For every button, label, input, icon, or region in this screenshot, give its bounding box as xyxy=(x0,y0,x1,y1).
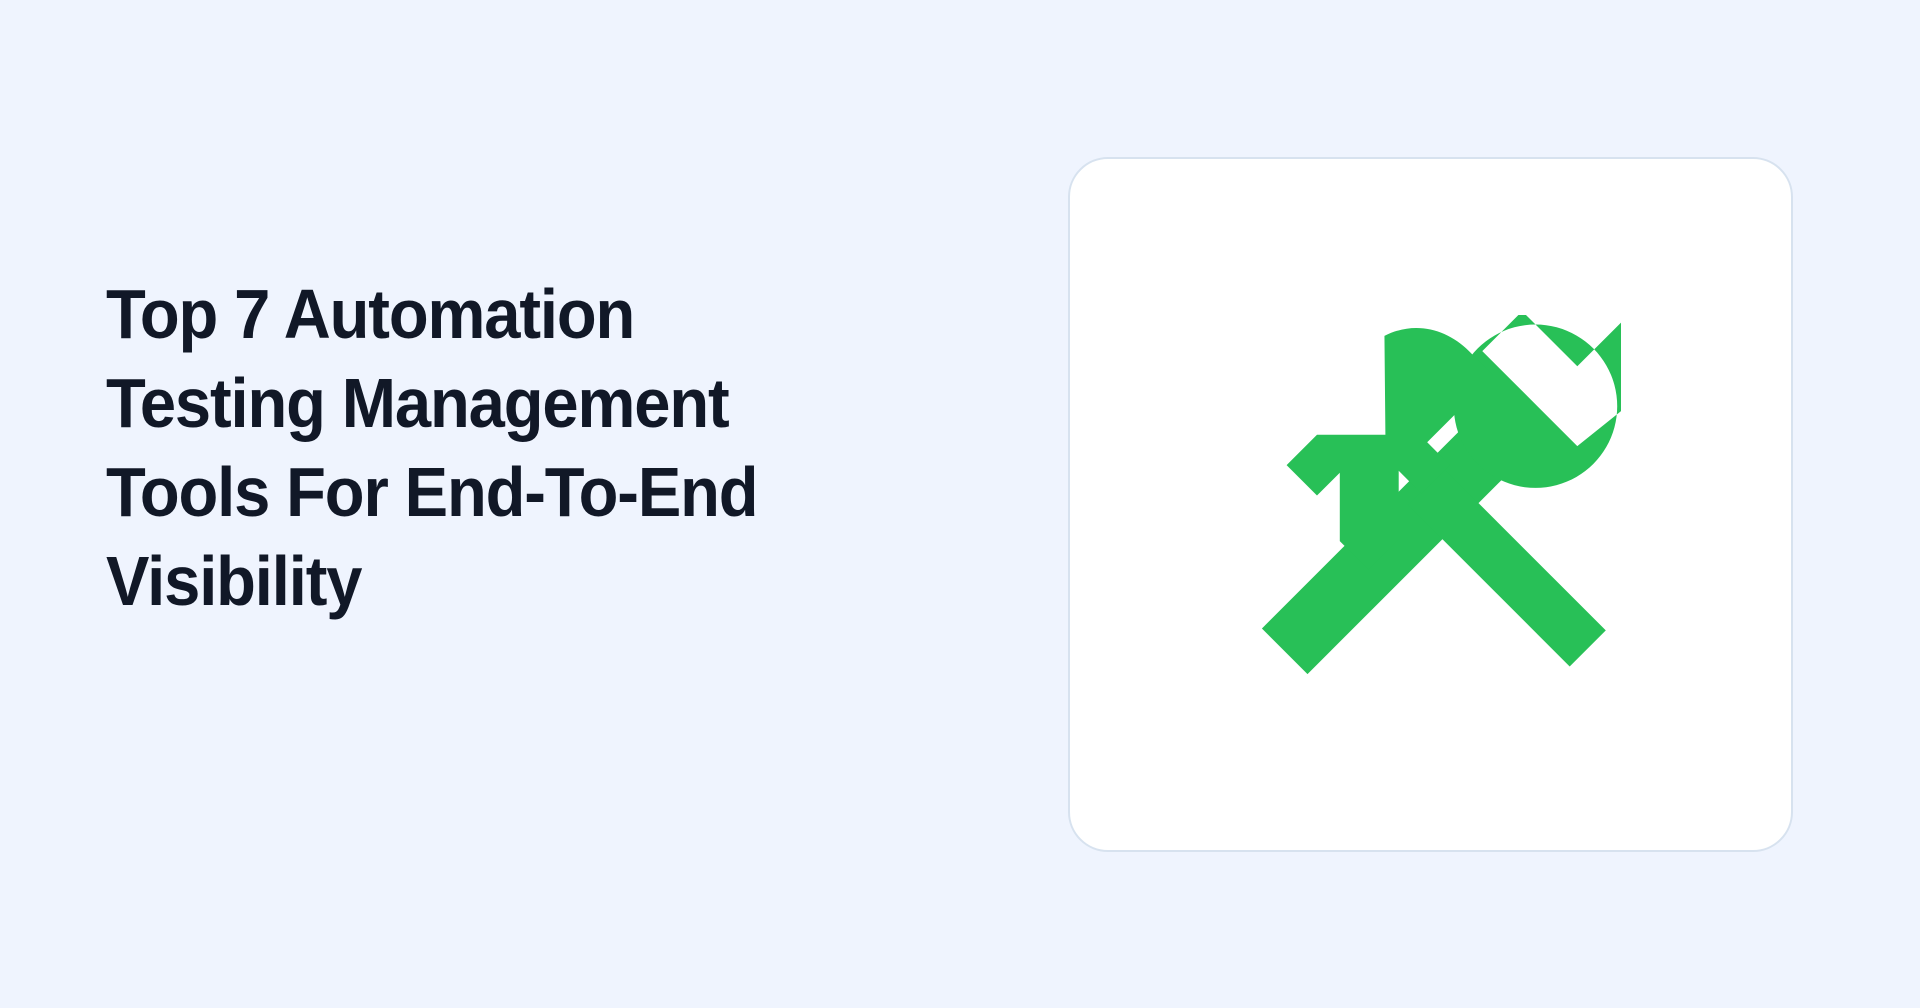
hammer-and-wrench-icon xyxy=(1241,315,1621,695)
page-title: Top 7 Automation Testing Management Tool… xyxy=(106,270,813,626)
headline-block: Top 7 Automation Testing Management Tool… xyxy=(106,270,866,626)
hero-banner: Top 7 Automation Testing Management Tool… xyxy=(0,0,1920,1008)
wrench-head xyxy=(1453,315,1620,488)
icon-card xyxy=(1068,157,1793,852)
hammer-handle xyxy=(1408,468,1606,666)
